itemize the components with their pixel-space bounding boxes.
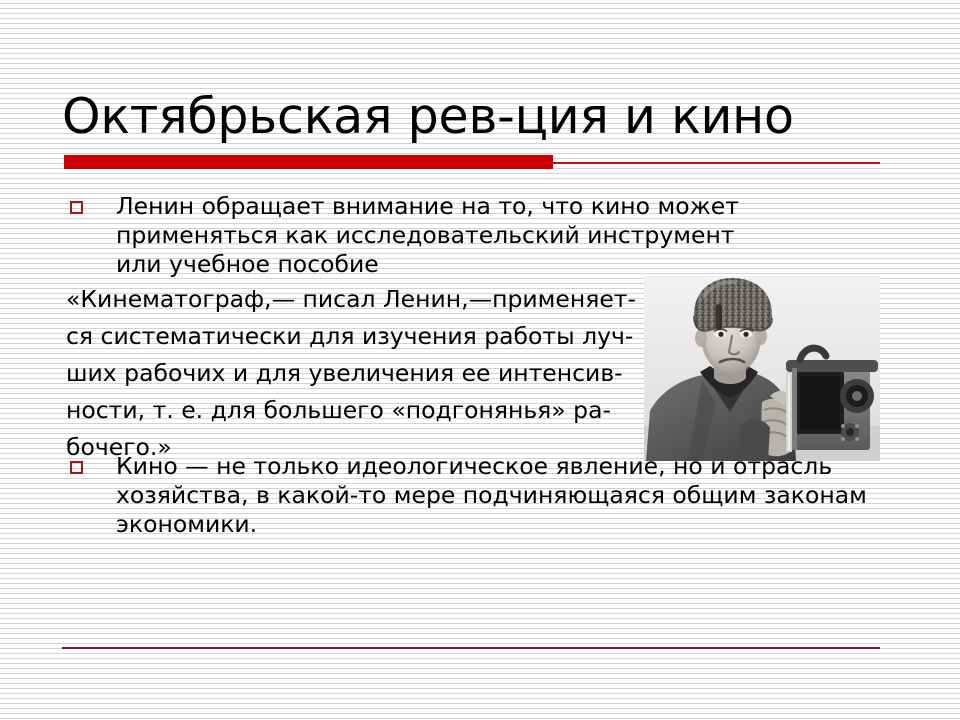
footer-rule <box>62 647 880 649</box>
bullet-item-1-text: Ленин обращает внимание на то, что кино … <box>116 192 750 279</box>
quote-line-3: ших рабочих и для увеличения ее интенсив… <box>66 359 623 387</box>
slide: Октябрьская рев-ция и кино Ленин обращае… <box>0 0 960 720</box>
square-outline-bullet-icon <box>70 201 83 214</box>
bullet-item-2-text: Кино — не только идеологическое явление,… <box>116 452 900 539</box>
bullet-item-2: Кино — не только идеологическое явление,… <box>70 452 900 539</box>
quote-line-4: ности, т. е. для большего «подгонянья» р… <box>66 396 611 424</box>
quote-line-2: ся систематически для изучения работы лу… <box>66 322 633 350</box>
cameraman-photo <box>644 276 880 461</box>
quote-line-1: «Кинематограф,— писал Ленин,—применяет- <box>66 285 636 313</box>
square-outline-bullet-icon <box>70 461 83 474</box>
bullet-item-1: Ленин обращает внимание на то, что кино … <box>70 192 750 279</box>
slide-body: Ленин обращает внимание на то, что кино … <box>0 0 960 720</box>
